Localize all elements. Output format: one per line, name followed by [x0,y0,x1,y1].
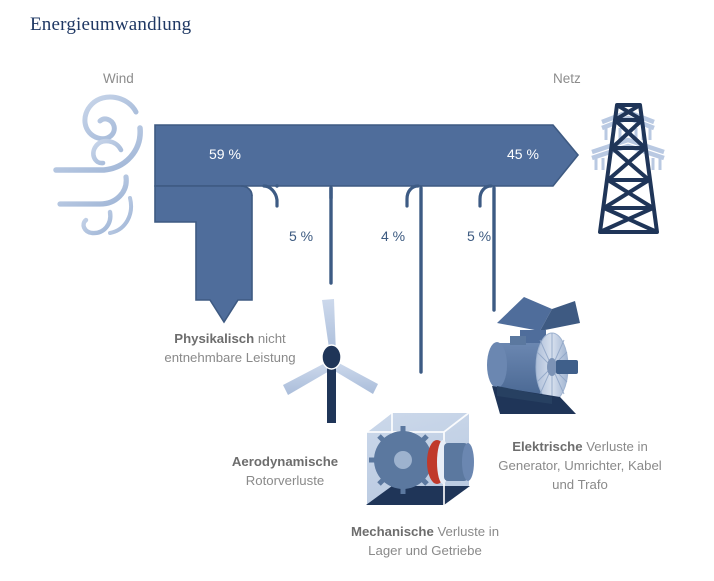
caption-aerodynamic-rest: Rotorverluste [246,473,324,488]
output-share: 45 % [507,146,539,162]
branch-share-aerodynamic: 5 % [289,228,313,244]
caption-aerodynamic: Aerodynamische Rotorverluste [215,452,355,490]
caption-physical: Physikalisch nicht entnehmbare Leistung [160,329,300,367]
branch-arrows [326,186,494,372]
bar-cutouts [252,186,268,200]
caption-mechanical-bold: Mechanische [351,524,434,539]
branch-share-mechanical: 4 % [381,228,405,244]
source-label: Wind [103,71,134,86]
caption-aerodynamic-bold: Aerodynamische [232,454,338,469]
caption-physical-bold: Physikalisch [174,331,254,346]
caption-electrical-bold: Elektrische [512,439,582,454]
caption-electrical: Elektrische Verluste in Generator, Umric… [495,437,665,494]
branch-share-electrical: 5 % [467,228,491,244]
wind-swirl-icon [56,97,140,233]
target-label: Netz [553,71,581,86]
input-share: 59 % [209,146,241,162]
power-pylon-icon [592,105,664,232]
elbow-corners [264,186,491,206]
generator-icon [487,297,580,414]
gearbox-icon [366,412,474,505]
caption-mechanical: Mechanische Verluste in Lager und Getrie… [345,522,505,560]
elbow-curves [277,186,331,198]
